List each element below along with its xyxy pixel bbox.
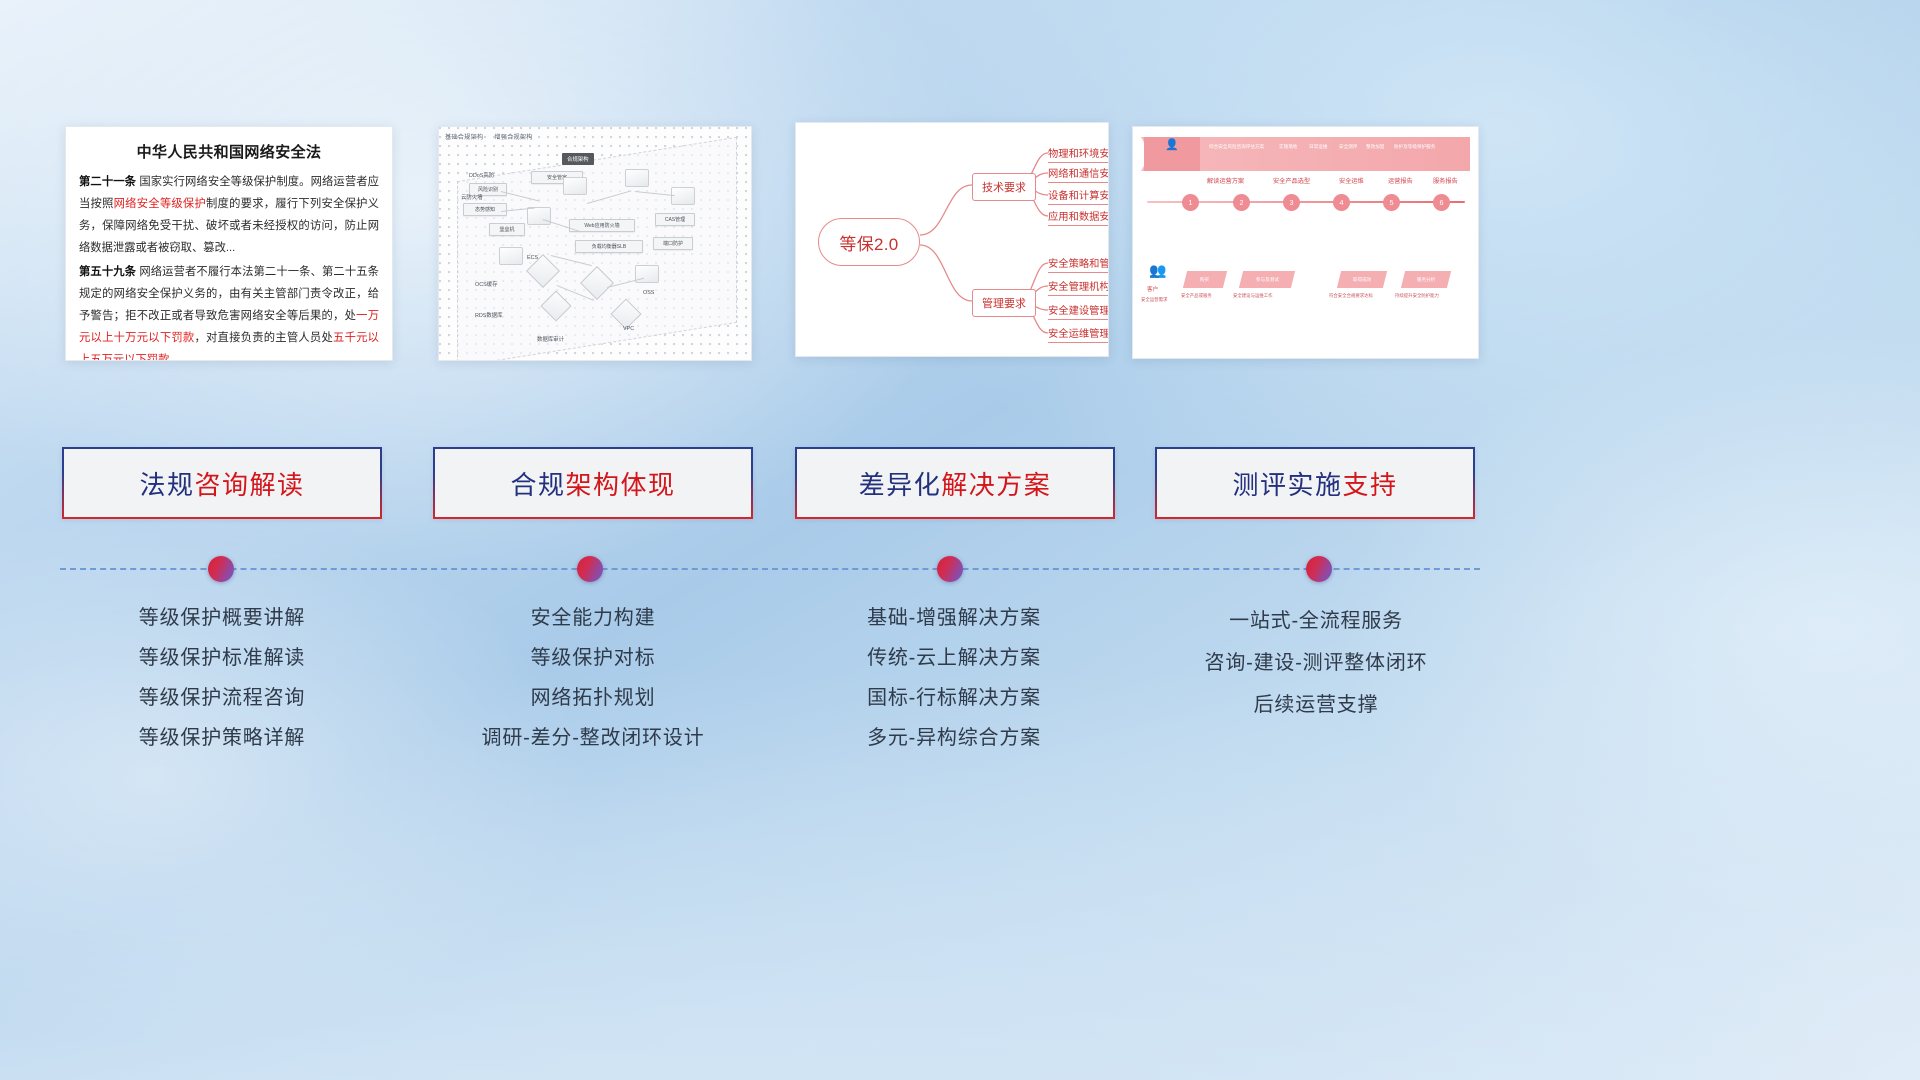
law-title: 中华人民共和国网络安全法 — [79, 141, 379, 162]
roadmap-brand-line2: 安全专家 — [1132, 160, 1332, 168]
roadmap-stage-4: 服务报告 — [1433, 176, 1458, 185]
roadmap-brand-line1: NSFOCUS — [1132, 153, 1332, 160]
list-item: 咨询-建设-测评整体闭环 — [1155, 653, 1477, 673]
mindmap-leaf-m0: 安全策略和管理制度 — [1048, 255, 1109, 273]
timeline-dot-4[interactable] — [1306, 556, 1332, 582]
arch-node-12: VPC — [623, 326, 634, 332]
law-article-21: 第二十一条 国家实行网络安全等级保护制度。网络运营者应当按照网络安全等级保护制度… — [79, 171, 379, 259]
banner-compliance-architecture[interactable]: 合规架构体现 — [433, 447, 753, 519]
roadmap-tag-2: 取得成效 — [1337, 271, 1387, 288]
law-article-21-highlight: 网络安全等级保护 — [114, 198, 206, 210]
feature-column-2: 安全能力构建 等级保护对标 网络拓扑规划 调研-差分-整改闭环设计 — [432, 608, 754, 768]
feature-column-4: 一站式-全流程服务 咨询-建设-测评整体闭环 后续运营支撑 — [1155, 611, 1477, 737]
timeline-dot-3[interactable] — [937, 556, 963, 582]
preview-card-compliance-architecture[interactable]: 基础合规架构增强合规架构 合规架构 安全管家 风险识别 态势感知 堡垒机 Web… — [438, 126, 752, 361]
list-item: 等级保护流程咨询 — [61, 688, 383, 708]
arch-header: 基础合规架构增强合规架构 — [445, 132, 544, 141]
list-item: 等级保护对标 — [432, 648, 754, 668]
list-item: 一站式-全流程服务 — [1155, 611, 1477, 631]
banner-label-2-red: 解决方案 — [941, 470, 1051, 500]
roadmap-stage-0: 解读运营方案 — [1207, 176, 1244, 185]
customer-icon: 👥 — [1149, 263, 1166, 277]
roadmap-stage-2: 安全运维 — [1339, 176, 1364, 185]
roadmap-tag-3: 服务分析 — [1401, 271, 1451, 288]
roadmap-tag-1: 参与及测试 — [1239, 271, 1295, 288]
law-article-59-text-2: ，对直接负责的主管人员处 — [194, 332, 333, 344]
banner-label-2: 差异化解决方案 — [859, 465, 1052, 502]
banner-differentiated-solution[interactable]: 差异化解决方案 — [795, 447, 1115, 519]
arch-node-10: RDS数据库 — [475, 311, 503, 319]
arch-node-5: CAS管理 — [655, 213, 695, 226]
roadmap-header-0: 综合安全风险咨询评估方案 — [1209, 144, 1264, 150]
arch-header-left: 基础合规架构 — [445, 134, 483, 141]
mindmap-leaf-m1: 安全管理机构和人员 — [1048, 278, 1109, 296]
banner-label-0-red: 咨询解读 — [195, 470, 305, 500]
preview-card-mindmap-dengbao[interactable]: 等保2.0 技术要求 管理要求 物理和环境安全 网络和通信安全 设备和计算安全 … — [795, 122, 1109, 357]
banner-label-2-blue: 差异化 — [859, 470, 942, 500]
roadmap-stage-3: 运营报告 — [1388, 176, 1413, 185]
arch-edge-label-1: 云防火墙 — [461, 193, 483, 201]
roadmap-step-1: 1 — [1182, 194, 1199, 211]
arch-node-3: 堡垒机 — [489, 223, 525, 236]
list-item: 国标-行标解决方案 — [793, 688, 1115, 708]
mindmap-leaf-m3: 安全运维管理 — [1048, 325, 1109, 343]
arch-node-11: OSS — [643, 290, 654, 296]
feature-column-1: 等级保护概要讲解 等级保护标准解读 等级保护流程咨询 等级保护策略详解 — [61, 608, 383, 768]
banner-label-3-red: 支持 — [1343, 470, 1398, 500]
banner-label-3: 测评实施支持 — [1232, 465, 1397, 502]
mindmap-root: 等保2.0 — [818, 218, 920, 266]
roadmap-header-2: 日常运维 — [1309, 144, 1327, 150]
mindmap-leaf-t3: 应用和数据安全 — [1048, 208, 1109, 226]
roadmap-step-3: 3 — [1283, 194, 1300, 211]
banner-label-1-red: 架构体现 — [566, 470, 676, 500]
roadmap-header-1: 实施落地 — [1279, 144, 1297, 150]
mindmap-leaf-t2: 设备和计算安全 — [1048, 187, 1109, 205]
roadmap-step-2: 2 — [1233, 194, 1250, 211]
roadmap-header-3: 安全测评 — [1339, 144, 1357, 150]
list-item: 等级保护标准解读 — [61, 648, 383, 668]
timeline-dashed-line — [60, 568, 1480, 570]
roadmap-stage-1: 安全产品选型 — [1273, 176, 1310, 185]
arch-node-7: 负载均衡器SLB — [575, 240, 643, 253]
list-item: 等级保护策略详解 — [61, 728, 383, 748]
arch-node-2: 态势感知 — [463, 203, 507, 216]
banner-label-1: 合规架构体现 — [510, 465, 675, 502]
roadmap-tag-0: 购买 — [1183, 271, 1227, 288]
roadmap-brand: 👤 NSFOCUS 安全专家 — [1144, 137, 1200, 171]
arch-node-13: 数据库审计 — [537, 335, 564, 343]
banner-label-3-blue: 测评实施 — [1232, 470, 1342, 500]
roadmap-customer-sub: 安全运营需求 — [1141, 297, 1167, 303]
mindmap-branch-technical: 技术要求 — [972, 173, 1036, 201]
arch-node-9: OCS缓存 — [475, 280, 497, 288]
list-item: 传统-云上解决方案 — [793, 648, 1115, 668]
list-item: 调研-差分-整改闭环设计 — [432, 728, 754, 748]
preview-card-cybersecurity-law[interactable]: 中华人民共和国网络安全法 第二十一条 国家实行网络安全等级保护制度。网络运营者应… — [65, 126, 393, 361]
arch-node-8: ECS — [527, 255, 538, 261]
roadmap-step-5: 5 — [1383, 194, 1400, 211]
list-item: 网络拓扑规划 — [432, 688, 754, 708]
arch-edge-label-0: DDoS高防 — [469, 171, 494, 179]
list-item: 多元-异构综合方案 — [793, 728, 1115, 748]
banner-label-0-blue: 法规 — [139, 470, 194, 500]
roadmap-header-4: 整改加固 — [1366, 144, 1384, 150]
roadmap-tag-2-sub: 符合安全合规要求达标 — [1329, 293, 1373, 299]
banner-label-0: 法规咨询解读 — [139, 465, 304, 502]
timeline-dot-2[interactable] — [577, 556, 603, 582]
law-article-21-label: 第二十一条 — [79, 176, 136, 188]
mindmap-leaf-t0: 物理和环境安全 — [1048, 145, 1109, 163]
mindmap-branch-management: 管理要求 — [972, 289, 1036, 317]
roadmap-step-4: 4 — [1333, 194, 1350, 211]
roadmap-tag-0-sub: 安全产品或服务 — [1181, 293, 1212, 299]
law-article-59-label: 第五十九条 — [79, 266, 136, 278]
mindmap-leaf-t1: 网络和通信安全 — [1048, 165, 1109, 183]
banner-regulation-consulting[interactable]: 法规咨询解读 — [62, 447, 382, 519]
list-item: 后续运营支撑 — [1155, 695, 1477, 715]
list-item: 安全能力构建 — [432, 608, 754, 628]
preview-card-nsfocus-roadmap[interactable]: 👤 NSFOCUS 安全专家 综合安全风险咨询评估方案 实施落地 日常运维 安全… — [1132, 126, 1479, 359]
mindmap-leaf-m2: 安全建设管理 — [1048, 302, 1109, 320]
law-article-59: 第五十九条 网络运营者不履行本法第二十一条、第二十五条规定的网络安全保护义务的，… — [79, 261, 379, 361]
roadmap-customer-caption: 客户 — [1147, 285, 1158, 293]
banner-label-1-blue: 合规 — [510, 470, 565, 500]
roadmap-step-6: 6 — [1433, 194, 1450, 211]
roadmap-header-5: 防护及等级保护服务 — [1394, 144, 1435, 150]
list-item: 等级保护概要讲解 — [61, 608, 383, 628]
list-item: 基础-增强解决方案 — [793, 608, 1115, 628]
roadmap-tag-3-sub: 持续提升安全防护能力 — [1395, 293, 1439, 299]
arch-tag-title: 合规架构 — [562, 153, 594, 165]
roadmap-tag-1-sub: 安全建设与运维工作 — [1233, 293, 1273, 299]
banner-evaluation-support[interactable]: 测评实施支持 — [1155, 447, 1475, 519]
timeline-dot-1[interactable] — [208, 556, 234, 582]
arch-header-right: 增强合规架构 — [494, 134, 532, 141]
feature-column-3: 基础-增强解决方案 传统-云上解决方案 国标-行标解决方案 多元-异构综合方案 — [793, 608, 1115, 768]
arch-node-6: 端口防护 — [653, 237, 693, 250]
user-icon: 👤 — [1165, 140, 1179, 151]
